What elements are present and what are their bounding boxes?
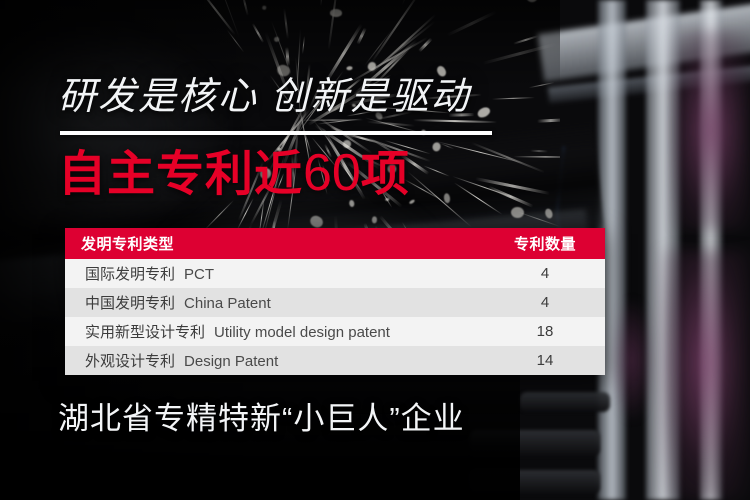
patent-type-en: Design Patent bbox=[184, 353, 278, 370]
headline-red: 自主专利近60项 bbox=[58, 145, 410, 201]
table-header-row: 发明专利类型 专利数量 bbox=[65, 228, 605, 259]
patent-type-en: PCT bbox=[184, 266, 214, 283]
poster-canvas: 研发是核心 创新是驱动 自主专利近60项 发明专利类型 专利数量 国际发明专利P… bbox=[0, 0, 750, 500]
patent-type-en: Utility model design patent bbox=[214, 324, 390, 341]
table-cell-count: 4 bbox=[485, 294, 605, 311]
table-header-type: 发明专利类型 bbox=[65, 233, 485, 254]
table-cell-count: 14 bbox=[485, 352, 605, 369]
patent-table: 发明专利类型 专利数量 国际发明专利PCT4中国发明专利China Patent… bbox=[65, 228, 605, 375]
table-row: 外观设计专利Design Patent14 bbox=[65, 346, 605, 375]
table-row: 中国发明专利China Patent4 bbox=[65, 288, 605, 317]
table-cell-type: 中国发明专利China Patent bbox=[65, 292, 485, 313]
caption-bottom: 湖北省专精特新“小巨人”企业 bbox=[58, 403, 465, 434]
patent-type-en: China Patent bbox=[184, 295, 271, 312]
headline-red-suffix: 项 bbox=[361, 148, 410, 201]
headline-red-number: 60 bbox=[303, 144, 361, 202]
table-body: 国际发明专利PCT4中国发明专利China Patent4实用新型设计专利Uti… bbox=[65, 259, 605, 375]
table-cell-type: 实用新型设计专利Utility model design patent bbox=[65, 321, 485, 342]
patent-type-cn: 实用新型设计专利 bbox=[85, 324, 205, 341]
headline-divider-rule bbox=[60, 131, 492, 135]
table-row: 国际发明专利PCT4 bbox=[65, 259, 605, 288]
headline-top: 研发是核心 创新是驱动 bbox=[58, 78, 471, 116]
table-header-count: 专利数量 bbox=[485, 233, 605, 254]
poster-content: 研发是核心 创新是驱动 自主专利近60项 发明专利类型 专利数量 国际发明专利P… bbox=[0, 0, 750, 500]
patent-type-cn: 外观设计专利 bbox=[85, 353, 175, 370]
table-cell-type: 外观设计专利Design Patent bbox=[65, 350, 485, 371]
table-row: 实用新型设计专利Utility model design patent18 bbox=[65, 317, 605, 346]
table-cell-count: 18 bbox=[485, 323, 605, 340]
table-cell-count: 4 bbox=[485, 265, 605, 282]
headline-red-prefix: 自主专利近 bbox=[58, 148, 303, 201]
table-cell-type: 国际发明专利PCT bbox=[65, 263, 485, 284]
patent-type-cn: 中国发明专利 bbox=[85, 295, 175, 312]
patent-type-cn: 国际发明专利 bbox=[85, 266, 175, 283]
